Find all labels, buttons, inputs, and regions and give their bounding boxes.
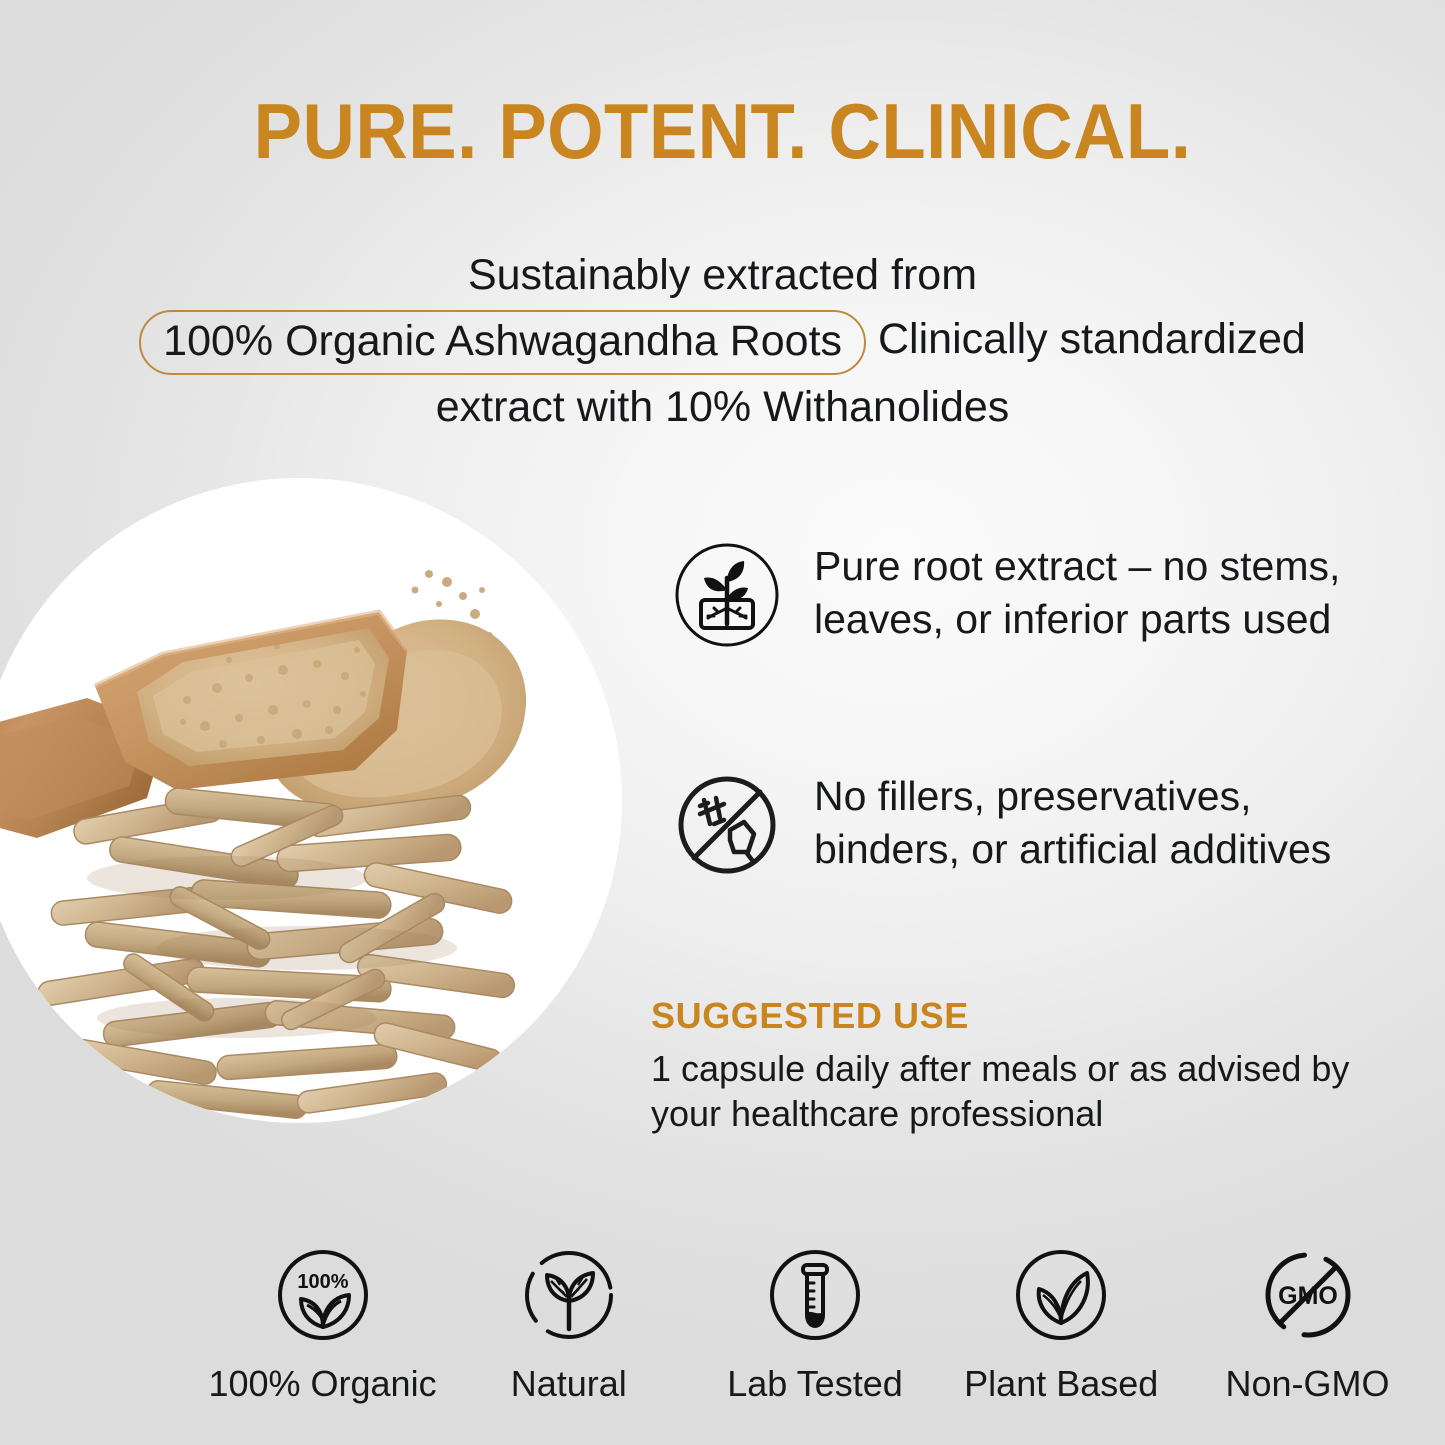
benefit-item: No fillers, preservatives, binders, or a…: [670, 766, 1370, 882]
plant-roots-icon: [670, 538, 784, 652]
hundred-percent-organic-icon: 100%: [271, 1243, 375, 1347]
two-leaves-icon: [1009, 1243, 1113, 1347]
subheadline-line-1: Sustainably extracted from: [468, 251, 977, 299]
trust-badges-row: 100% 100% Organic N: [215, 1243, 1415, 1405]
badge-plant-based: Plant Based: [954, 1243, 1169, 1405]
subheadline-after-pill: Clinically standardized: [878, 315, 1306, 363]
subheadline-line-3: extract with 10% Withanolides: [436, 383, 1010, 431]
organic-roots-pill: 100% Organic Ashwagandha Roots: [139, 310, 866, 375]
page-title: PURE. POTENT. CLINICAL.: [51, 88, 1395, 174]
svg-text:GMO: GMO: [1278, 1282, 1338, 1310]
benefit-text: No fillers, preservatives, binders, or a…: [814, 766, 1370, 876]
badge-label: 100% Organic: [208, 1363, 436, 1405]
suggested-use-title: SUGGESTED USE: [651, 995, 1391, 1037]
badge-100-percent-organic: 100% 100% Organic: [215, 1243, 430, 1405]
benefit-item: Pure root extract – no stems, leaves, or…: [670, 536, 1370, 652]
badge-lab-tested: Lab Tested: [708, 1243, 923, 1405]
natural-leaf-cycle-icon: [517, 1243, 621, 1347]
badge-label: Natural: [511, 1363, 627, 1405]
product-feature-panel: PURE. POTENT. CLINICAL. Sustainably extr…: [0, 0, 1445, 1445]
benefit-text: Pure root extract – no stems, leaves, or…: [814, 536, 1370, 646]
subheadline: Sustainably extracted from 100% Organic …: [30, 243, 1415, 439]
test-tube-icon: [763, 1243, 867, 1347]
badge-label: Plant Based: [964, 1363, 1158, 1405]
badge-non-gmo: GMO Non-GMO: [1200, 1243, 1415, 1405]
suggested-use-section: SUGGESTED USE 1 capsule daily after meal…: [651, 995, 1391, 1136]
no-additives-icon: [670, 768, 784, 882]
product-photo: [0, 478, 622, 1123]
badge-label: Lab Tested: [727, 1363, 902, 1405]
badge-natural: Natural: [461, 1243, 676, 1405]
badge-label: Non-GMO: [1225, 1363, 1389, 1405]
non-gmo-icon: GMO: [1256, 1243, 1360, 1347]
ashwagandha-root-photo: [0, 478, 622, 1123]
suggested-use-body: 1 capsule daily after meals or as advise…: [651, 1046, 1391, 1136]
svg-text:100%: 100%: [297, 1271, 348, 1293]
